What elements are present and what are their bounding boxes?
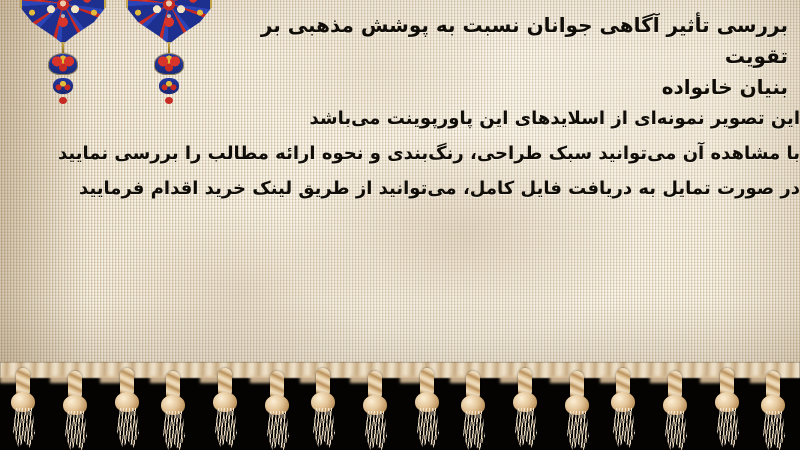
carpet-tassel xyxy=(260,371,294,449)
carpet-tassel xyxy=(560,371,594,449)
medallion-pendant-small xyxy=(165,97,173,104)
carpet-medallion-ornament-1 xyxy=(20,0,106,104)
tassel-strands xyxy=(717,408,739,448)
body-line-3: در صورت تمایل به دریافت فایل کامل، می‌تو… xyxy=(60,178,800,199)
slide-title-line-2: بنیان خانواده xyxy=(662,75,788,99)
carpet-tassel xyxy=(456,371,490,449)
tassel-strands xyxy=(365,411,387,450)
tassel-strands xyxy=(117,408,139,448)
carpet-tassel xyxy=(658,371,692,449)
tassel-strands xyxy=(417,408,439,448)
carpet-tassel xyxy=(58,371,92,449)
tassel-strands xyxy=(65,411,87,450)
slide-body-text: این تصویر نمونه‌ای از اسلایدهای این پاور… xyxy=(60,108,800,199)
carpet-fringe-band xyxy=(0,362,800,450)
tassel-strands xyxy=(515,408,537,448)
body-line-2: با مشاهده آن می‌توانید سبک طراحی، رنگ‌بن… xyxy=(60,143,800,164)
tassel-strands xyxy=(567,411,589,450)
tassel-strands xyxy=(763,411,785,450)
medallion-stem xyxy=(168,44,170,53)
medallion-head-icon xyxy=(126,0,212,44)
carpet-tassel xyxy=(306,368,340,446)
slide-title-line-1: بررسی تأثیر آگاهی جوانان نسبت به پوشش مذ… xyxy=(261,13,788,68)
tassel-strands xyxy=(313,408,335,448)
carpet-tassel xyxy=(756,371,790,449)
carpet-tassel xyxy=(6,368,40,446)
carpet-tassel xyxy=(410,368,444,446)
carpet-tassel xyxy=(606,368,640,446)
tassel-strands xyxy=(463,411,485,450)
carpet-tassel xyxy=(508,368,542,446)
carpet-tassel xyxy=(710,368,744,446)
tassel-strands xyxy=(215,408,237,448)
medallion-pendant-medium xyxy=(53,78,73,94)
presentation-slide: بررسی تأثیر آگاهی جوانان نسبت به پوشش مذ… xyxy=(0,0,800,450)
carpet-tassel xyxy=(156,371,190,449)
carpet-tassel xyxy=(208,368,242,446)
medallion-pendant-large xyxy=(48,53,78,75)
tassel-strands xyxy=(163,411,185,450)
tassel-strands xyxy=(613,408,635,448)
medallion-pendant-large xyxy=(154,53,184,75)
medallion-stem xyxy=(62,44,64,53)
tassel-strands xyxy=(13,408,35,448)
medallion-pendant-small xyxy=(59,97,67,104)
tassel-strands xyxy=(267,411,289,450)
medallion-head-icon xyxy=(20,0,106,44)
carpet-tassel xyxy=(358,371,392,449)
medallion-pendant-medium xyxy=(159,78,179,94)
body-line-1: این تصویر نمونه‌ای از اسلایدهای این پاور… xyxy=(60,108,800,129)
carpet-medallion-ornament-2 xyxy=(126,0,212,104)
carpet-tassel xyxy=(110,368,144,446)
slide-title: بررسی تأثیر آگاهی جوانان نسبت به پوشش مذ… xyxy=(228,10,788,103)
tassel-strands xyxy=(665,411,687,450)
